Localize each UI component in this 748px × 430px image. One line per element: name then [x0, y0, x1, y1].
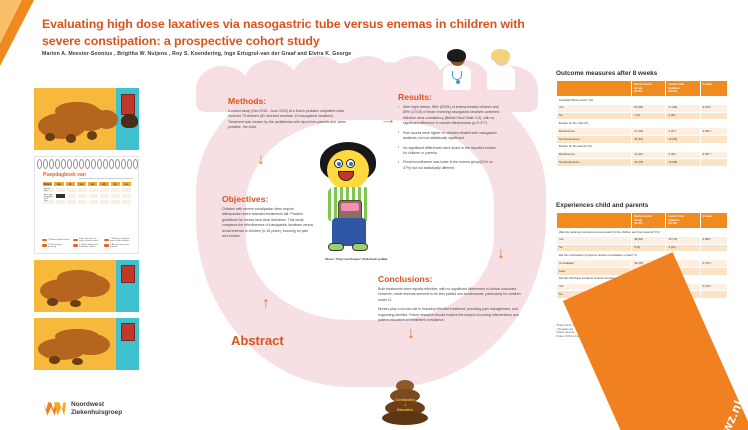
conclusions-body: Both treatments were equally effective, … [378, 287, 523, 324]
stool-shape-icon [73, 244, 78, 247]
page-title: Evaluating high dose laxatives via nasog… [42, 16, 562, 49]
diary-legend: 1 Kleine harde keutels4 Als een worst of… [42, 238, 132, 249]
spiral-ring [115, 159, 120, 169]
arrow-down-icon-methods: ↓ [257, 152, 265, 168]
poster-canvas: Evaluating high dose laxatives via nasog… [0, 0, 748, 430]
spiral-ring [133, 159, 138, 169]
table-cell: 2 (11) [666, 112, 700, 120]
table-row-label: Immediately [557, 260, 632, 268]
section-conclusions: Conclusions: Both treatments were equall… [378, 274, 523, 328]
spiral-ring [91, 159, 96, 169]
mascot-caption: Uitvoer: "Poep moet Poepen". Kinderboek … [310, 258, 402, 261]
arrow-right-icon-results: → [380, 112, 396, 128]
diary-table: DatummadiwodovrijzazoAantal keerHoe zag … [42, 181, 132, 205]
table-cell: 40 (78) [632, 159, 666, 167]
spiral-ring [121, 159, 126, 169]
poop-mascot-illustration: Constipation = Education [382, 380, 428, 426]
table-column-header: P-value [700, 213, 727, 229]
arrow-down-icon-results: ↓ [497, 246, 505, 262]
table-cell: 13 (68) [666, 159, 700, 167]
diary-cell [77, 199, 88, 205]
table-header-row: Rectal enemaGroup(N=51)Gastric tubelaxat… [557, 81, 728, 97]
table-row-label: Yes [557, 236, 632, 244]
table-section-outcome-measures: Outcome measures after 8 weeks Rectal en… [556, 70, 728, 167]
table-row-label: Burdensome [557, 128, 632, 136]
table-section-label: Was the treatment perceived as successfu… [557, 228, 728, 236]
table-cell: 4 (21) [666, 244, 700, 252]
section-results: Results: After eight weeks, 96% (50/51) … [398, 92, 500, 175]
methods-heading: Methods: [228, 96, 350, 106]
table-section-row: Was the treatment perceived as successfu… [557, 228, 728, 236]
table-cell: 48 (94) [632, 236, 666, 244]
spiral-ring [79, 159, 84, 169]
diary-cell [121, 199, 132, 205]
table-row: Yes48 (94)15 (79)0.082 ¹ [557, 236, 728, 244]
conclusions-heading: Conclusions: [378, 274, 523, 284]
table-row: Yes50 (98)17 (89)0.153 ¹ [557, 104, 728, 112]
results-bullet: After eight weeks, 96% (50/51) of enema-… [398, 105, 500, 127]
table-cell: 9 (47) [666, 128, 700, 136]
table-cell [700, 267, 727, 275]
diary-legend-item: 2 Worstachtig, klonterig [42, 244, 70, 248]
doctors-illustration [440, 46, 526, 90]
table-section-row: Burden for the child (%) [557, 120, 728, 128]
table-header-row: Rectal enemaGroup(N=51)Gastric tubelaxat… [557, 213, 728, 229]
diary-cell [99, 199, 110, 205]
spiral-ring [103, 159, 108, 169]
conclusions-paragraph: Nurses play a crucial role in ensuring e… [378, 307, 523, 323]
table-section-row: Did the constipation symptoms resolve im… [557, 252, 728, 260]
table-2-title: Experiences child and parents [556, 202, 728, 209]
spiral-ring [73, 159, 78, 169]
stool-shape-icon [104, 239, 109, 242]
organization-logo: Noordwest Ziekenhuisgroep [42, 400, 122, 418]
table-cell: 0.153 ¹ [700, 104, 727, 112]
objectives-heading: Objectives: [222, 194, 314, 204]
table-row-label: Burdensome [557, 151, 632, 159]
diary-row: Pijn [42, 199, 132, 205]
table-cell: 17 (89) [666, 104, 700, 112]
table-section-label: Burden for the parents (%) [557, 143, 728, 151]
table-row-label: No [557, 112, 632, 120]
table-row-label: Not burdensome [557, 135, 632, 143]
table-cell: 11 (22) [632, 151, 666, 159]
table-cell [700, 291, 727, 299]
results-bullet-list: After eight weeks, 96% (50/51) of enema-… [398, 105, 500, 171]
table-1-title: Outcome measures after 8 weeks [556, 70, 728, 77]
stool-shape-icon [42, 239, 47, 242]
spiral-ring [37, 159, 42, 169]
spiral-ring [49, 159, 54, 169]
spiral-ring [85, 159, 90, 169]
conclusions-paragraph: Both treatments were equally effective, … [378, 287, 523, 303]
table-cell [700, 135, 727, 143]
table-cell: 15 (79) [666, 236, 700, 244]
table-cell: 50 (98) [632, 104, 666, 112]
photo-poop-diary: Poepdagboek van DatummadiwodovrijzazoAan… [34, 156, 139, 254]
table-column-header: Rectal enemaGroup(N=51) [632, 81, 666, 97]
poop-label-line3: Education [382, 408, 428, 413]
table-cell: 0.215 ² [700, 283, 727, 291]
stool-shape-icon [73, 239, 78, 242]
diary-cell [55, 199, 66, 205]
spiral-ring [55, 159, 60, 169]
table-row: Burdensome11 (22)6 (32)0.397 ² [557, 151, 728, 159]
diary-legend-row: 1 Kleine harde keutels4 Als een worst of… [42, 238, 132, 242]
photo-toilet-scene-2 [34, 260, 139, 312]
spiral-binding-icon [37, 159, 136, 169]
table-row-label: Not burdensome [557, 159, 632, 167]
photo-toilet-scene-3 [34, 318, 139, 370]
stool-shape-icon [104, 244, 109, 247]
table-cell: 3 (6) [632, 244, 666, 252]
diary-cell [88, 199, 99, 205]
logo-line-2: Ziekenhuisgroep [71, 409, 122, 417]
table-cell: 6 (32) [666, 151, 700, 159]
spiral-ring [61, 159, 66, 169]
table-column-header: Gastric tubelaxatives(N=19) [666, 81, 700, 97]
objectives-body: Children with severe constipation often … [222, 207, 314, 240]
mascot-boy-illustration: Uitvoer: "Poep moet Poepen". Kinderboek … [316, 142, 382, 260]
table-row: Burdensome17 (33)9 (47)0.262 ² [557, 128, 728, 136]
table-section-label: Desirable Bristol score* (%) [557, 96, 728, 104]
photo-toilet-scene-1 [34, 88, 139, 150]
spiral-ring [67, 159, 72, 169]
table-cell: 10 (53) [666, 135, 700, 143]
nwz-logo-icon [42, 400, 66, 418]
diary-legend-item: 4 Als een worst of slang, glad en zacht [73, 238, 101, 242]
logo-line-1: Noordwest [71, 401, 122, 409]
table-column-header [557, 213, 632, 229]
section-objectives: Objectives: Children with severe constip… [222, 194, 314, 240]
spiral-ring [97, 159, 102, 169]
table-cell [700, 159, 727, 167]
results-bullet: Pain scores were higher for children tre… [398, 131, 500, 142]
logo-text: Noordwest Ziekenhuisgroep [71, 401, 122, 417]
table-section-label: Burden for the child (%) [557, 120, 728, 128]
table-row: Not burdensome34 (67)10 (53) [557, 135, 728, 143]
table-row: Not burdensome40 (78)13 (68) [557, 159, 728, 167]
table-cell: 1 (2) [632, 112, 666, 120]
spiral-ring [109, 159, 114, 169]
diary-legend-item: 5 Zachte blobs met duidelijke randen [73, 244, 101, 248]
table-cell: 0.473 ² [700, 260, 727, 268]
outcome-measures-table: Rectal enemaGroup(N=51)Gastric tubelaxat… [556, 80, 728, 167]
methods-body: A cohort study (Dec 2016 - June 2023) at… [228, 109, 350, 131]
diary-cell [66, 199, 77, 205]
poop-mascot-label: Constipation = Education [382, 398, 428, 412]
table-cell: 34 (67) [632, 135, 666, 143]
table-cell: 17 (33) [632, 128, 666, 136]
table-row: No1 (2)2 (11) [557, 112, 728, 120]
table-column-header: P-value [700, 81, 727, 97]
arrow-down-icon-conclusions: ↓ [407, 326, 415, 342]
table-cell: 0.082 ¹ [700, 236, 727, 244]
table-column-header [557, 81, 632, 97]
table-section-label: Did the constipation symptoms resolve im… [557, 252, 728, 260]
arrow-up-icon-objectives: ↑ [262, 296, 270, 312]
table-row-label: Yes [557, 104, 632, 112]
table-section-row: Burden for the parents (%) [557, 143, 728, 151]
author-list: Marion A. Meester-Soonius , Brigitha W. … [42, 51, 462, 57]
table-row-label: No [557, 244, 632, 252]
table-cell: 0.262 ² [700, 128, 727, 136]
diary-row-label: Pijn [42, 199, 55, 205]
section-methods: Methods: A cohort study (Dec 2016 - June… [228, 96, 350, 131]
table-cell [700, 244, 727, 252]
abstract-label: Abstract [231, 333, 284, 348]
results-bullet: No significant differences were found in… [398, 146, 500, 157]
diary-legend-item: 7 Waterig, vloeibaar, geen vaste stukken [104, 238, 132, 242]
table-section-row: Desirable Bristol score* (%) [557, 96, 728, 104]
diary-legend-row: 2 Worstachtig, klonterig5 Zachte blobs m… [42, 244, 132, 248]
stool-shape-icon [42, 244, 47, 247]
spiral-ring [127, 159, 132, 169]
diary-cell [110, 199, 121, 205]
table-cell [700, 112, 727, 120]
spiral-ring [43, 159, 48, 169]
results-heading: Results: [398, 92, 500, 102]
table-column-header: Gastric tubelaxatives(N=19) [666, 213, 700, 229]
results-bullet: Fecal incontinence was lower in the enem… [398, 160, 500, 171]
table-row: No3 (6)4 (21) [557, 244, 728, 252]
table-column-header: Rectal enemaGroup(N=51) [632, 213, 666, 229]
table-cell: 0.397 ² [700, 151, 727, 159]
diary-legend-item: 1 Kleine harde keutels [42, 238, 70, 242]
diary-legend-item: 3 Als een worst met barsten [104, 244, 132, 248]
